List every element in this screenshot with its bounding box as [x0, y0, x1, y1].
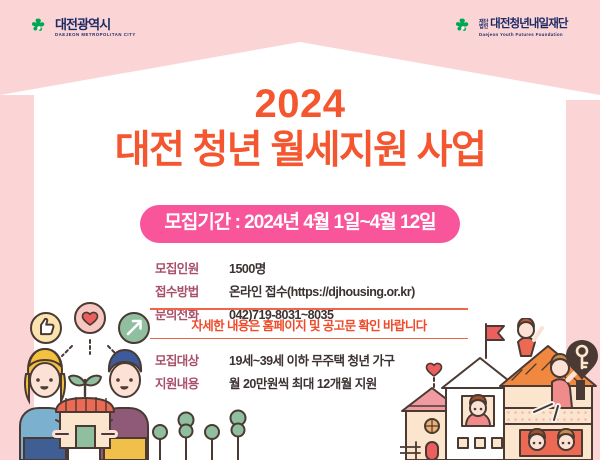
- header-logos: 대전광역시 DAEJEON METROPOLITAN CITY 재단 법: [0, 0, 600, 56]
- daejeon-youth-flower-mark-icon: [452, 17, 474, 39]
- roof-flag-icon: [486, 324, 504, 358]
- arrow-up-right-badge-icon: [119, 313, 149, 343]
- title-block: 2024 대전 청년 월세지원 사업: [0, 84, 600, 172]
- sprout-icon: [69, 376, 101, 396]
- info-label: 접수방법: [155, 281, 229, 300]
- logo-daejeon-city: 대전광역시 DAEJEON METROPOLITAN CITY: [28, 17, 136, 39]
- logo-youth-foundation-prefix: 재단 법인: [479, 20, 488, 31]
- period-banner: 모집기간 : 2024년 4월 1일~4월 12일: [0, 205, 600, 243]
- logo-daejeon-city-name-ko: 대전광역시: [55, 18, 110, 31]
- heart-badge-icon: [75, 303, 105, 333]
- tree-row-illustration: [150, 406, 270, 460]
- daejeon-flower-mark-icon: [28, 17, 50, 39]
- info-row: 접수방법 온라인 접수(https://djhousing.or.kr): [155, 281, 485, 300]
- title-year: 2024: [0, 84, 600, 124]
- info-value: 월 20만원씩 최대 12개월 지원: [229, 373, 377, 392]
- logo-daejeon-city-text: 대전광역시 DAEJEON METROPOLITAN CITY: [55, 18, 136, 37]
- logo-daejeon-city-name-en: DAEJEON METROPOLITAN CITY: [55, 33, 136, 37]
- logo-youth-foundation: 재단 법인 대전청년내일재단 Daejeon Youth Futures Fou…: [452, 17, 568, 39]
- title-main: 대전 청년 월세지원 사업: [0, 131, 600, 172]
- poster-root: 대전광역시 DAEJEON METROPOLITAN CITY 재단 법: [0, 0, 600, 460]
- logo-prefix-line2: 법인: [479, 24, 488, 30]
- info-row: 모집인원 1500명: [155, 258, 485, 277]
- info-label: 모집인원: [155, 258, 229, 277]
- person-on-upper-roof: [518, 318, 542, 356]
- shop-house-icon: [56, 397, 114, 448]
- thumbs-up-badge-icon: [31, 313, 61, 343]
- logo-youth-foundation-name-ko: 대전청년내일재단: [490, 19, 567, 31]
- logo-youth-foundation-name-en: Daejeon Youth Futures Foundation: [479, 33, 568, 37]
- info-value: 1500명: [229, 258, 266, 277]
- period-banner-text: 모집기간 : 2024년 4월 1일~4월 12일: [140, 205, 459, 243]
- info-value: 19세~39세 이하 무주택 청년 가구: [229, 350, 395, 369]
- logo-youth-foundation-text: 재단 법인 대전청년내일재단 Daejeon Youth Futures Fou…: [479, 19, 568, 37]
- info-value-application-link[interactable]: 온라인 접수(https://djhousing.or.kr): [229, 281, 415, 300]
- houses-with-residents-illustration: [400, 318, 600, 460]
